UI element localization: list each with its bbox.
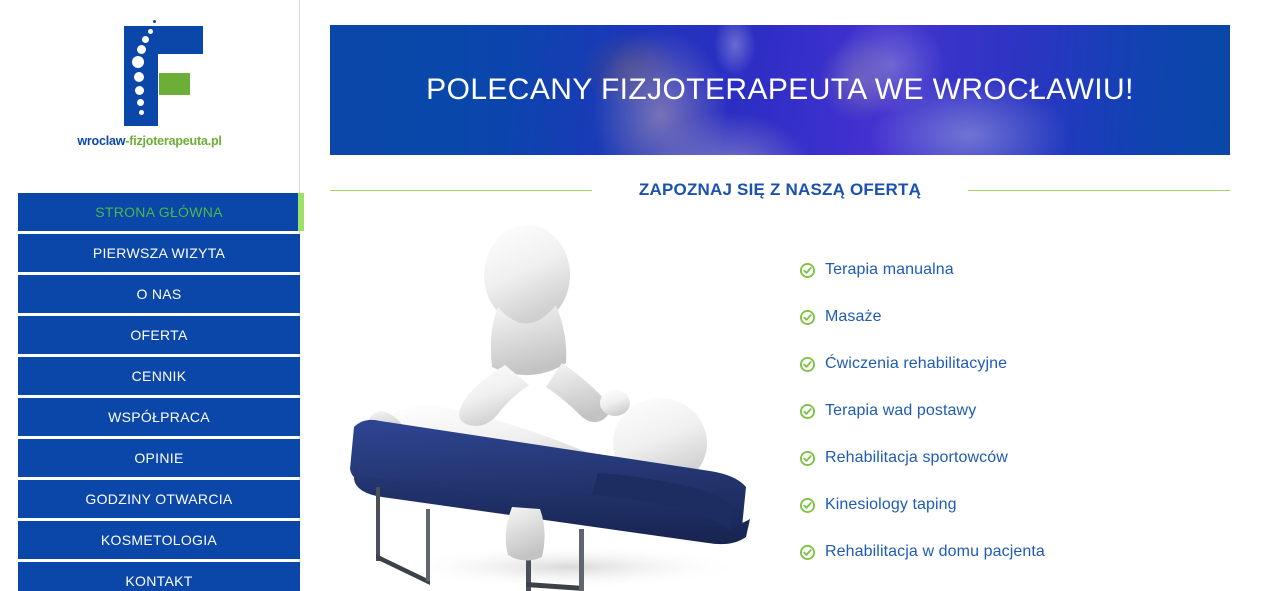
check-circle-icon	[800, 451, 815, 466]
nav-label: WSPÓŁPRACA	[108, 409, 210, 425]
rule-left	[330, 190, 592, 191]
nav-label: GODZINY OTWARCIA	[85, 491, 232, 507]
list-item[interactable]: Masaże	[800, 304, 1220, 330]
check-circle-icon	[800, 498, 815, 513]
logo-wordmark: wroclaw-fizjoterapeuta.pl	[77, 134, 221, 148]
logo-word-green: -fizjoterapeuta.pl	[125, 134, 221, 148]
check-circle-icon	[800, 357, 815, 372]
services-list: Terapia manualna Masaże Ćwiczenia rehabi…	[800, 257, 1220, 586]
letter-f-spine-icon	[102, 18, 198, 128]
sidebar-item-o-nas[interactable]: O NAS	[18, 275, 300, 313]
list-item[interactable]: Terapia manualna	[800, 257, 1220, 283]
main-navigation: STRONA GŁÓWNA PIERWSZA WIZYTA O NAS OFER…	[18, 193, 302, 591]
offer-section-header: ZAPOZNAJ SIĘ Z NASZĄ OFERTĄ	[330, 176, 1230, 204]
hero-banner-title: POLECANY FIZJOTERAPEUTA WE WROCŁAWIU!	[330, 25, 1230, 155]
sidebar-item-oferta[interactable]: OFERTA	[18, 316, 300, 354]
sidebar-item-cennik[interactable]: CENNIK	[18, 357, 300, 395]
list-item[interactable]: Terapia wad postawy	[800, 398, 1220, 424]
sidebar-item-wspolpraca[interactable]: WSPÓŁPRACA	[18, 398, 300, 436]
service-label: Terapia manualna	[825, 261, 954, 279]
offer-section-title: ZAPOZNAJ SIĘ Z NASZĄ OFERTĄ	[592, 180, 968, 200]
nav-label: KONTAKT	[125, 573, 192, 589]
nav-label: CENNIK	[132, 368, 187, 384]
sidebar-item-kosmetologia[interactable]: KOSMETOLOGIA	[18, 521, 300, 559]
site-logo[interactable]: wroclaw-fizjoterapeuta.pl	[0, 18, 299, 178]
sidebar: wroclaw-fizjoterapeuta.pl STRONA GŁÓWNA …	[0, 0, 300, 591]
sidebar-item-kontakt[interactable]: KONTAKT	[18, 562, 300, 591]
sidebar-item-godziny-otwarcia[interactable]: GODZINY OTWARCIA	[18, 480, 300, 518]
nav-label: OFERTA	[130, 327, 187, 343]
rule-right	[968, 190, 1230, 191]
nav-label: STRONA GŁÓWNA	[95, 204, 223, 220]
nav-label: PIERWSZA WIZYTA	[93, 245, 225, 261]
list-item[interactable]: Rehabilitacja w domu pacjenta	[800, 539, 1220, 565]
logo-word-blue: wroclaw	[77, 134, 125, 148]
page-root: wroclaw-fizjoterapeuta.pl STRONA GŁÓWNA …	[0, 0, 1280, 591]
hero-banner: POLECANY FIZJOTERAPEUTA WE WROCŁAWIU!	[330, 25, 1230, 155]
nav-label: OPINIE	[134, 450, 183, 466]
nav-label: KOSMETOLOGIA	[101, 532, 217, 548]
main-content: POLECANY FIZJOTERAPEUTA WE WROCŁAWIU! ZA…	[300, 0, 1280, 591]
list-item[interactable]: Rehabilitacja sportowców	[800, 445, 1220, 471]
offer-content: Terapia manualna Masaże Ćwiczenia rehabi…	[300, 215, 1280, 591]
logo-green-block	[159, 73, 190, 95]
sidebar-item-strona-glowna[interactable]: STRONA GŁÓWNA	[18, 193, 300, 231]
list-item[interactable]: Kinesiology taping	[800, 492, 1220, 518]
nav-label: O NAS	[136, 286, 181, 302]
check-circle-icon	[800, 545, 815, 560]
service-label: Rehabilitacja sportowców	[825, 449, 1008, 467]
service-label: Rehabilitacja w domu pacjenta	[825, 543, 1045, 561]
service-label: Terapia wad postawy	[825, 402, 976, 420]
service-label: Kinesiology taping	[825, 496, 957, 514]
service-label: Ćwiczenia rehabilitacyjne	[825, 355, 1007, 373]
service-label: Masaże	[825, 308, 882, 326]
check-circle-icon	[800, 404, 815, 419]
sidebar-item-opinie[interactable]: OPINIE	[18, 439, 300, 477]
check-circle-icon	[800, 263, 815, 278]
massage-illustration	[330, 215, 800, 591]
sidebar-item-pierwsza-wizyta[interactable]: PIERWSZA WIZYTA	[18, 234, 300, 272]
list-item[interactable]: Ćwiczenia rehabilitacyjne	[800, 351, 1220, 377]
check-circle-icon	[800, 310, 815, 325]
